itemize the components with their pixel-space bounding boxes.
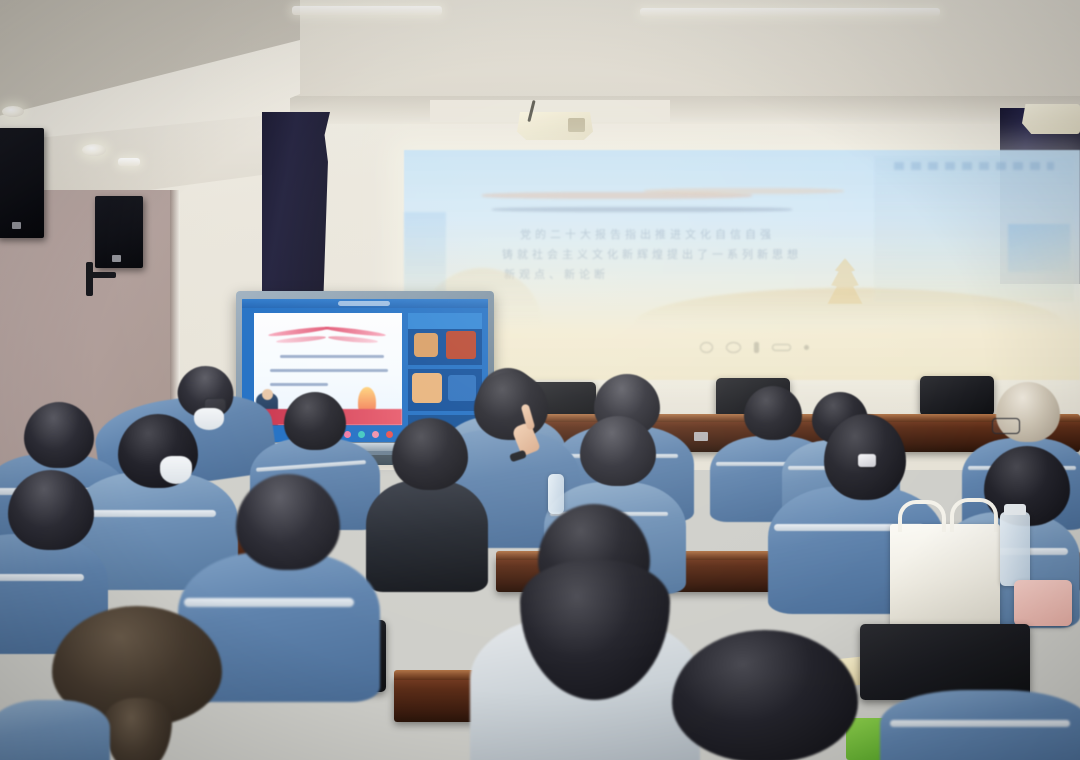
remote-participant-video — [408, 369, 482, 411]
attendee-head — [474, 372, 548, 440]
remote-participant-video — [408, 313, 482, 365]
attendee-head — [672, 630, 858, 760]
slide-text-line-2 — [270, 369, 388, 372]
hair-clip-icon — [858, 454, 876, 467]
projection-screen: 党的二十大报告指出推进文化自信自强 铸就社会主义文化新辉煌提出了一系列新思想 新… — [404, 150, 1080, 380]
cloud-ribbon-icon — [492, 207, 792, 212]
ceiling-right-lip — [290, 96, 1080, 124]
attendee-body — [0, 700, 110, 760]
attendee-head — [744, 386, 802, 440]
navy-curtain-left — [262, 112, 330, 304]
red-ribbon-banner-icon — [328, 335, 378, 344]
remote-video-header — [894, 162, 1054, 170]
title-pill — [338, 301, 390, 306]
monitor-screen[interactable] — [242, 299, 488, 442]
water-bottle — [548, 474, 564, 514]
chair-front — [860, 624, 1030, 700]
conference-title-bar — [242, 299, 488, 308]
slide-figure-head-icon — [262, 389, 273, 400]
ceiling-projector-right — [1022, 104, 1080, 134]
speaker-mount-bracket — [86, 272, 116, 278]
uniform-stripe — [76, 510, 216, 517]
attendee-head — [284, 392, 346, 450]
cloud-ribbon-icon — [644, 188, 844, 194]
dot-rose-icon[interactable] — [372, 431, 379, 438]
attendee-head — [236, 474, 340, 570]
slide-text-line-3 — [270, 383, 328, 386]
slide-text-line-1 — [280, 355, 384, 358]
chair-back — [920, 376, 994, 416]
downlight-icon — [2, 106, 24, 117]
attendee-head — [580, 416, 656, 486]
uniform-stripe — [0, 574, 84, 581]
more-icon — [804, 345, 809, 350]
camera-icon — [726, 342, 741, 353]
ponytail — [104, 698, 172, 760]
projection-text-line-2: 铸就社会主义文化新辉煌提出了一系列新思想 — [502, 246, 802, 262]
remote-video-thumb — [1008, 224, 1070, 272]
uniform-stripe — [184, 598, 354, 607]
projection-text-line-1: 党的二十大报告指出推进文化自信自强 — [520, 226, 775, 242]
face-mask-icon — [160, 456, 192, 484]
strip-light-icon — [640, 8, 940, 16]
glasses-icon — [992, 418, 1020, 434]
tote-bag-handle — [950, 498, 998, 532]
wall-speaker-left — [0, 128, 44, 238]
dot-pink-icon[interactable] — [344, 431, 351, 438]
speaker-mount-bracket — [86, 262, 93, 296]
attendee-head — [8, 470, 94, 550]
conference-room-photo: 党的二十大报告指出推进文化自信自强 铸就社会主义文化新辉煌提出了一系列新思想 新… — [0, 0, 1080, 760]
wall-speaker-center — [95, 196, 143, 268]
projection-toolbar — [700, 342, 809, 353]
projector-lens-icon — [568, 118, 585, 132]
desk-plate — [694, 432, 708, 441]
red-ribbon-banner-icon — [276, 335, 326, 344]
pink-pouch — [1014, 580, 1072, 626]
bottle-cap-icon — [1004, 504, 1026, 515]
tote-bag-handle — [898, 500, 946, 532]
attendee-head — [24, 402, 94, 468]
mic-icon — [700, 342, 713, 353]
dot-teal-icon[interactable] — [358, 431, 365, 438]
dot-red-icon[interactable] — [386, 431, 393, 438]
strip-light-icon — [118, 158, 140, 166]
strip-light-icon — [292, 6, 442, 15]
share-icon — [754, 342, 759, 353]
uniform-stripe — [890, 720, 1070, 727]
attendee-head — [392, 418, 468, 490]
downlight-icon — [82, 144, 106, 156]
attendee-body — [366, 480, 488, 592]
face-mask-icon — [194, 408, 224, 430]
tote-bag — [890, 524, 1000, 632]
water-bottle — [1000, 512, 1030, 586]
participants-icon — [772, 344, 791, 351]
